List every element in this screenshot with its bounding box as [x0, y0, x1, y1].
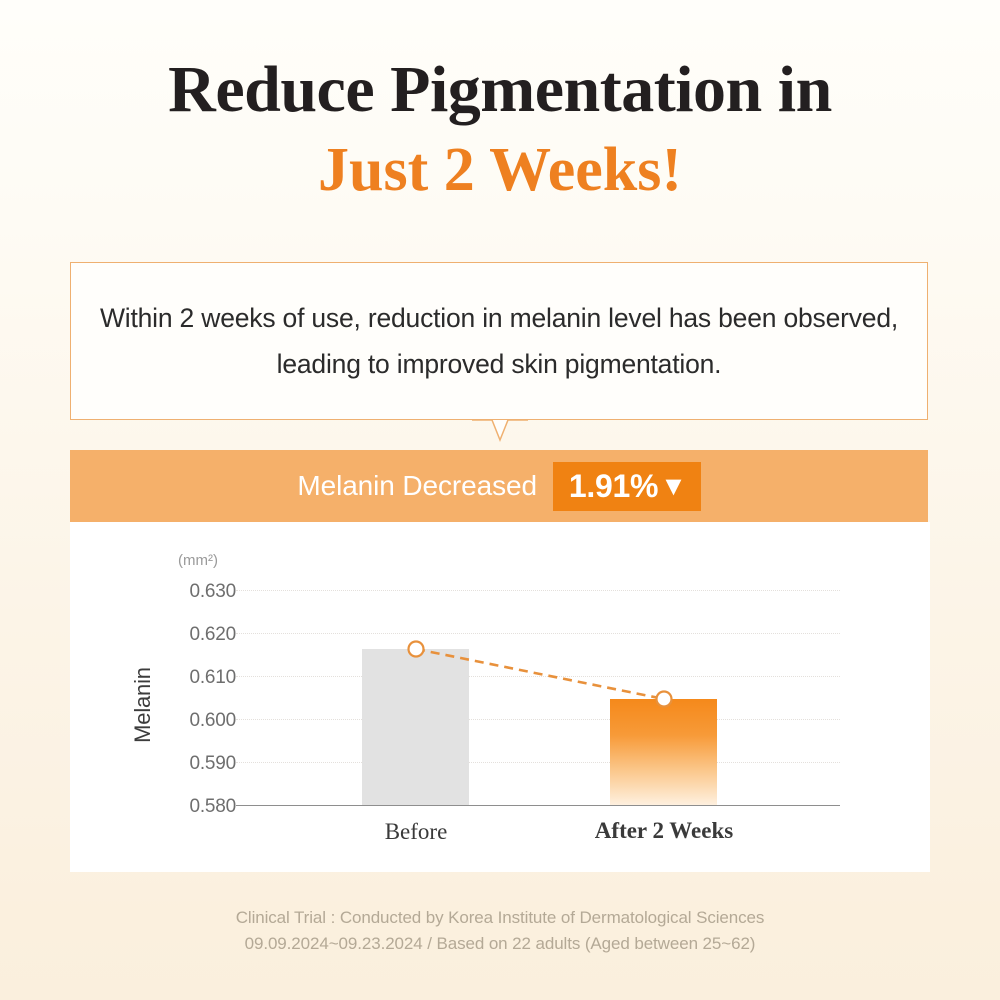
- page-title: Reduce Pigmentation in Just 2 Weeks!: [0, 52, 1000, 206]
- trend-marker-after: [657, 692, 672, 707]
- banner-label: Melanin Decreased: [297, 470, 537, 502]
- description-callout: Within 2 weeks of use, reduction in mela…: [70, 262, 928, 420]
- melanin-decreased-banner: Melanin Decreased 1.91% ▼: [70, 450, 928, 522]
- title-line-accent: Just 2 Weeks!: [0, 134, 1000, 206]
- footer-line-1: Clinical Trial : Conducted by Korea Inst…: [0, 905, 1000, 931]
- chart-panel: (mm²) Melanin 0.630 0.620 0.610 0.600 0.…: [70, 522, 930, 872]
- trend-marker-before: [409, 642, 424, 657]
- badge-value: 1.91%: [569, 470, 658, 502]
- title-line-primary: Reduce Pigmentation in: [0, 52, 1000, 128]
- x-tick-label-before: Before: [306, 819, 526, 845]
- callout-pointer-icon: [472, 419, 528, 445]
- trend-dashed-line: [416, 649, 664, 699]
- description-text: Within 2 weeks of use, reduction in mela…: [99, 295, 899, 387]
- footer-line-2: 09.09.2024~09.23.2024 / Based on 22 adul…: [0, 931, 1000, 957]
- decrease-badge: 1.91% ▼: [553, 462, 701, 511]
- x-tick-label-after: After 2 Weeks: [554, 818, 774, 844]
- down-triangle-icon: ▼: [660, 473, 686, 500]
- clinical-trial-footer: Clinical Trial : Conducted by Korea Inst…: [0, 905, 1000, 957]
